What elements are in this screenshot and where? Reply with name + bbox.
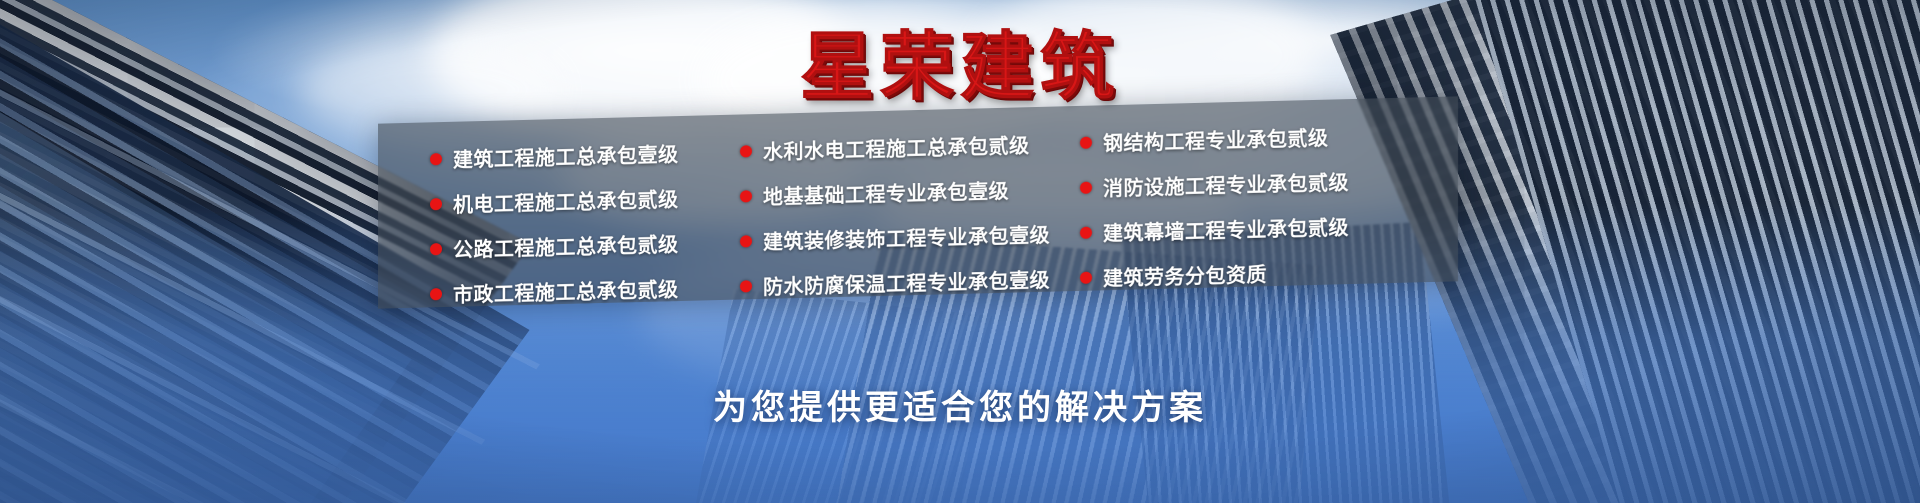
company-name-title: 星荣建筑 [0,30,1920,104]
bullet-dot-icon [740,280,752,292]
bullet-dot-icon [430,288,442,300]
list-item[interactable]: 地基基础工程专业承包壹级 [740,173,1080,211]
qualification-column-2: 水利水电工程施工总承包贰级 地基基础工程专业承包壹级 建筑装修装饰工程专业承包壹… [740,128,1080,300]
qualification-columns: 建筑工程施工总承包壹级 机电工程施工总承包贰级 公路工程施工总承包贰级 市政工程… [378,96,1458,308]
list-item[interactable]: 钢结构工程专业承包贰级 [1080,120,1410,157]
company-hero-banner: 星荣建筑 建筑工程施工总承包壹级 机电工程施工总承包贰级 公路工程施工总承包贰级 [0,0,1920,503]
bullet-dot-icon [740,190,752,202]
list-item-label: 钢结构工程专业承包贰级 [1103,122,1329,157]
list-item[interactable]: 建筑幕墙工程专业承包贰级 [1080,210,1410,247]
bullet-dot-icon [1080,136,1092,148]
list-item-label: 市政工程施工总承包贰级 [453,273,679,308]
list-item-label: 建筑劳务分包资质 [1103,258,1267,291]
qualification-column-1: 建筑工程施工总承包壹级 机电工程施工总承包贰级 公路工程施工总承包贰级 市政工程… [430,137,740,308]
list-item-label: 地基基础工程专业承包壹级 [763,175,1009,210]
bullet-dot-icon [430,198,442,210]
list-item-label: 建筑工程施工总承包壹级 [453,138,679,173]
bullet-dot-icon [1080,181,1092,193]
bullet-dot-icon [740,145,752,157]
list-item[interactable]: 公路工程施工总承包贰级 [430,227,740,264]
bullet-dot-icon [430,243,442,255]
list-item-label: 消防设施工程专业承包贰级 [1103,166,1349,201]
list-item[interactable]: 建筑工程施工总承包壹级 [430,137,740,174]
list-item[interactable]: 机电工程施工总承包贰级 [430,182,740,219]
bullet-dot-icon [430,153,442,165]
list-item-label: 机电工程施工总承包贰级 [453,183,679,218]
list-item-label: 水利水电工程施工总承包贰级 [763,129,1030,165]
list-item[interactable]: 建筑装修装饰工程专业承包壹级 [740,218,1080,256]
list-item-label: 建筑幕墙工程专业承包贰级 [1103,211,1349,246]
bullet-dot-icon [1080,226,1092,238]
bullet-dot-icon [740,235,752,247]
list-item[interactable]: 消防设施工程专业承包贰级 [1080,165,1410,202]
list-item[interactable]: 水利水电工程施工总承包贰级 [740,128,1080,166]
tagline: 为您提供更适合您的解决方案 [0,380,1920,429]
qualification-column-3: 钢结构工程专业承包贰级 消防设施工程专业承包贰级 建筑幕墙工程专业承包贰级 建筑… [1080,120,1410,291]
qualification-panel: 建筑工程施工总承包壹级 机电工程施工总承包贰级 公路工程施工总承包贰级 市政工程… [378,96,1458,308]
list-item-label: 建筑装修装饰工程专业承包壹级 [763,219,1050,255]
list-item-label: 公路工程施工总承包贰级 [453,228,679,263]
bullet-dot-icon [1080,271,1092,283]
